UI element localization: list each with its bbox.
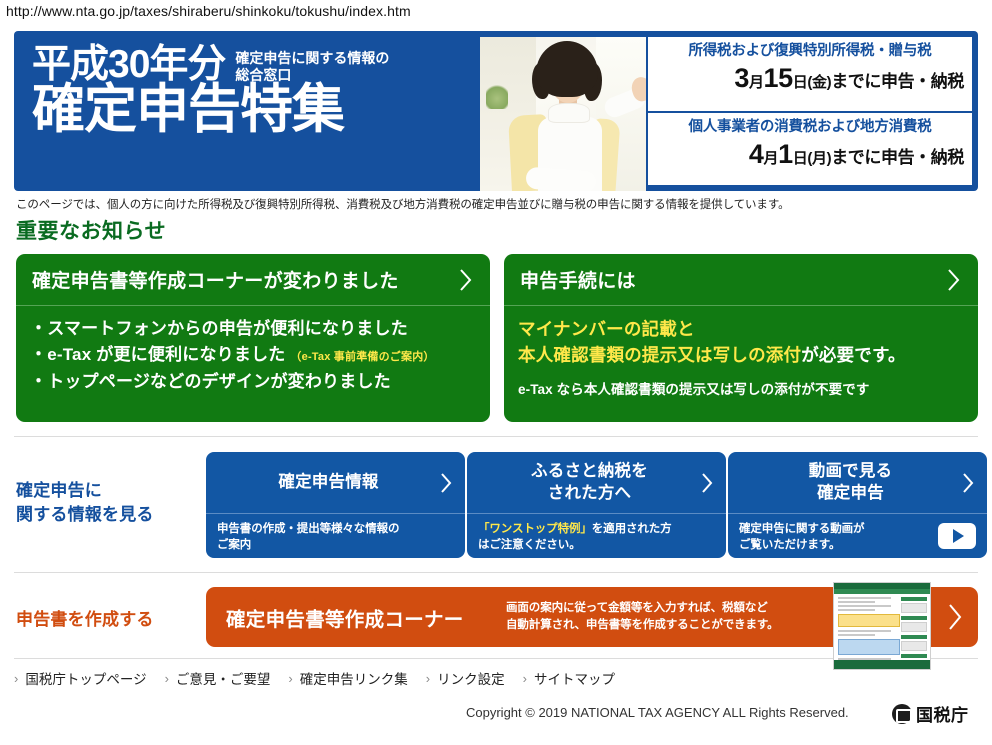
card-3-header: 動画で見る 確定申告 [728,452,987,514]
photo-hair-top [536,41,598,97]
deadline-month-2: 4 [749,139,764,169]
deadline-date-1: 3月15日(金)までに申告・納税 [656,63,964,94]
card-2-title-line1: ふるさと納税を [479,461,700,482]
chevron-right-icon [700,472,714,494]
card-1-description: 申告書の作成・提出等様々な情報の ご案内 [217,521,454,554]
cta-title: 確定申告書等作成コーナー [226,603,506,632]
notice-right-line-2-white: が必要です。 [801,345,905,365]
footer-link-link-settings[interactable]: › リンク設定 [426,668,505,688]
chevron-right-icon: › [14,671,18,686]
chevron-right-icon [961,472,975,494]
notice-left-body: ・スマートフォンからの申告が便利になりました ・e-Tax が更に便利になりまし… [16,306,490,395]
card-3-title-line1: 動画で見る [740,461,961,482]
footer-link-label: サイトマップ [534,668,615,688]
cta-desc-line1: 画面の案内に従って金額等を入力すれば、税額など [506,600,836,617]
deadline-weekday-1: (金) [807,74,831,91]
deadline-month-unit-1: 月 [749,74,764,91]
thumb-footer-bar [834,660,930,669]
chevron-right-icon [946,602,964,632]
notice-left-bullet-2-main: ・e-Tax が更に便利になりました [30,345,285,364]
card-1-title: 確定申告情報 [218,472,439,493]
notice-left-bullet-3: ・トップページなどのデザインが変わりました [30,369,476,395]
thumb-main-column [838,597,900,658]
cta-section-label: 申告書を作成する [16,605,154,630]
card-1-desc-line1: 申告書の作成・提出等様々な情報の [217,521,454,537]
notice-right-line-1: マイナンバーの記載と [518,316,964,342]
deadline-month-1: 3 [734,63,749,93]
deadline-tax-label-2: 個人事業者の消費税および地方消費税 [656,119,964,136]
notice-card-sakusei-corner[interactable]: 確定申告書等作成コーナーが変わりました ・スマートフォンからの申告が便利になりま… [16,254,490,422]
deadline-row-income-tax: 所得税および復興特別所得税・贈与税 3月15日(金)までに申告・納税 [648,37,972,111]
chevron-right-icon [458,267,474,293]
card-1-desc-line2: ご案内 [217,537,454,553]
deadline-day-2: 1 [778,139,793,169]
footer-link-label: ご意見・ご要望 [176,668,271,688]
thumb-blue-box [838,639,900,655]
deadline-day-unit-2: 日 [793,150,808,167]
deadline-weekday-2: (月) [807,150,831,167]
footer-link-feedback[interactable]: › ご意見・ご要望 [165,668,271,688]
footer-link-sitemap[interactable]: › サイトマップ [523,668,615,688]
notice-right-header[interactable]: 申告手続には [504,254,978,306]
card-2-body: 「ワンストップ特例」を適用された方 はご注意ください。 [467,514,726,554]
deadline-action-2: までに申告・納税 [831,148,964,167]
card-3-body: 確定申告に関する動画が ご覧いただけます。 [728,514,987,554]
cta-desc-line2: 自動計算され、申告書等を作成することができます。 [506,617,836,634]
notice-right-body: マイナンバーの記載と 本人確認書類の提示又は写しの添付が必要です。 e-Tax … [504,306,978,398]
card-2-desc-highlight: 「ワンストップ特例」 [478,523,592,535]
card-2-desc-line1: 「ワンストップ特例」を適用された方 [478,521,715,537]
info-section-label: 確定申告に 関する情報を見る [16,479,154,527]
photo-turtleneck [548,103,590,123]
footer-link-label: 確定申告リンク集 [300,668,408,688]
card-furusato-nozei[interactable]: ふるさと納税を された方へ 「ワンストップ特例」を適用された方 はご注意ください… [467,452,726,558]
deadline-month-unit-2: 月 [764,150,779,167]
video-play-icon[interactable] [938,523,976,549]
card-2-title-line2: された方へ [479,483,700,504]
deadline-tax-label-1: 所得税および復興特別所得税・贈与税 [656,43,964,60]
card-kakutei-shinkoku-joho[interactable]: 確定申告情報 申告書の作成・提出等様々な情報の ご案内 [206,452,465,558]
nta-brand-logo: 国税庁 [892,701,969,726]
nta-seal-icon [892,704,912,724]
site-screenshot-thumbnail [833,582,931,670]
hero-left-text: 平成30年分 確定申告に関する情報の 総合窓口 確定申告特集 [32,45,482,137]
notice-right-heading: 申告手続には [520,266,946,293]
cta-description: 画面の案内に従って金額等を入力すれば、税額など 自動計算され、申告書等を作成する… [506,600,836,635]
chevron-right-icon: › [288,671,292,686]
divider-top [14,436,978,437]
smiling-woman-photo [480,37,646,191]
info-section-label-line1: 確定申告に [16,479,154,503]
hero-year: 平成30年分 [32,45,225,85]
notice-left-bullet-1: ・スマートフォンからの申告が便利になりました [30,316,476,342]
copyright-text: Copyright © 2019 NATIONAL TAX AGENCY ALL… [466,705,849,720]
notice-left-bullet-2-note[interactable]: （e-Tax 事前準備のご案内） [290,351,434,363]
notice-right-line-2: 本人確認書類の提示又は写しの添付が必要です。 [518,342,964,368]
card-2-description: 「ワンストップ特例」を適用された方 はご注意ください。 [478,521,715,554]
footer-link-label: 国税庁トップページ [25,668,146,688]
footer-links: › 国税庁トップページ › ご意見・ご要望 › 確定申告リンク集 › リンク設定… [14,668,615,688]
notice-left-bullet-2: ・e-Tax が更に便利になりました （e-Tax 事前準備のご案内） [30,342,476,368]
card-2-desc-line2: はご注意ください。 [478,537,715,553]
hero-top-row: 平成30年分 確定申告に関する情報の 総合窓口 [32,45,482,85]
nta-tax-return-special-page: http://www.nta.go.jp/taxes/shiraberu/shi… [0,0,992,745]
card-1-body: 申告書の作成・提出等様々な情報の ご案内 [206,514,465,554]
chevron-right-icon [439,472,453,494]
brand-name-label: 国税庁 [916,701,969,726]
notice-right-line-3: e-Tax なら本人確認書類の提示又は写しの添付が不要です [518,378,964,398]
notice-card-shinkoku-tetsuzuki[interactable]: 申告手続には マイナンバーの記載と 本人確認書類の提示又は写しの添付が必要です。… [504,254,978,422]
chevron-right-icon: › [426,671,430,686]
card-3-description: 確定申告に関する動画が ご覧いただけます。 [739,521,932,554]
notice-left-header[interactable]: 確定申告書等作成コーナーが変わりました [16,254,490,306]
card-douga-de-miru[interactable]: 動画で見る 確定申告 確定申告に関する動画が ご覧いただけます。 [728,452,987,558]
chevron-right-icon: › [523,671,527,686]
chevron-right-icon [946,267,962,293]
divider-middle [14,572,978,573]
thumb-yellow-box [838,614,900,627]
thumb-nav-bar [834,589,930,594]
deadline-day-1: 15 [764,63,793,93]
card-2-desc-rest: を適用された方 [592,523,672,535]
card-2-header: ふるさと納税を された方へ [467,452,726,514]
thumb-side-column [901,597,927,658]
page-description: このページでは、個人の方に向けた所得税及び復興特別所得税、消費税及び地方消費税の… [16,196,789,212]
footer-link-label: リンク設定 [437,668,505,688]
deadline-date-2: 4月1日(月)までに申告・納税 [656,139,964,170]
card-3-desc-line2: ご覧いただけます。 [739,537,932,553]
info-section-label-line2: 関する情報を見る [16,503,154,527]
url-text[interactable]: http://www.nta.go.jp/taxes/shiraberu/shi… [6,3,411,19]
important-notice-heading: 重要なお知らせ [16,215,166,245]
deadline-day-unit-1: 日 [793,74,808,91]
card-1-header: 確定申告情報 [206,452,465,514]
deadline-panel: 所得税および復興特別所得税・贈与税 3月15日(金)までに申告・納税 個人事業者… [648,37,972,185]
card-2-title: ふるさと納税を された方へ [479,461,700,503]
footer-link-linkshu[interactable]: › 確定申告リンク集 [288,668,407,688]
play-triangle-icon [953,529,964,543]
card-3-desc-line1: 確定申告に関する動画が [739,521,932,537]
card-3-title-line2: 確定申告 [740,483,961,504]
deadline-row-consumption-tax: 個人事業者の消費税および地方消費税 4月1日(月)までに申告・納税 [648,111,972,185]
chevron-right-icon: › [165,671,169,686]
hero-subtitle-line1: 確定申告に関する情報の [235,50,389,67]
hero-title: 確定申告特集 [32,83,482,137]
footer-link-nta-top[interactable]: › 国税庁トップページ [14,668,147,688]
card-3-title: 動画で見る 確定申告 [740,461,961,503]
deadline-action-1: までに申告・納税 [831,72,964,91]
notice-left-heading: 確定申告書等作成コーナーが変わりました [32,266,458,293]
notice-right-line-2-yellow: 本人確認書類の提示又は写しの添付 [518,345,801,365]
hero-banner[interactable]: 平成30年分 確定申告に関する情報の 総合窓口 確定申告特集 [14,31,978,191]
photo-plant [486,83,508,109]
photo-lower-arm [525,167,596,191]
